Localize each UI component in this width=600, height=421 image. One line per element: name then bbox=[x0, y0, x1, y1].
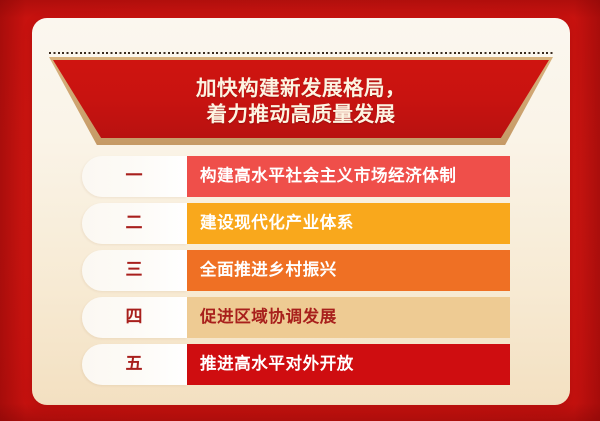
item-label: 全面推进乡村振兴 bbox=[200, 262, 337, 279]
item-number-label: 一 bbox=[126, 168, 144, 185]
poster-root: 加快构建新发展格局， 着力推动高质量发展 一 构建高水平社会主义市场经济体制 二… bbox=[0, 0, 600, 421]
item-number-badge: 三 bbox=[82, 250, 187, 291]
item-bar: 构建高水平社会主义市场经济体制 bbox=[187, 156, 510, 197]
item-bar: 推进高水平对外开放 bbox=[187, 344, 510, 385]
list-item[interactable]: 五 推进高水平对外开放 bbox=[32, 344, 570, 385]
item-number-label: 三 bbox=[126, 262, 144, 279]
list-item[interactable]: 三 全面推进乡村振兴 bbox=[32, 250, 570, 291]
list-item[interactable]: 一 构建高水平社会主义市场经济体制 bbox=[32, 156, 570, 197]
title-banner: 加快构建新发展格局， 着力推动高质量发展 bbox=[49, 57, 553, 145]
item-number-badge: 二 bbox=[82, 203, 187, 244]
item-bar: 促进区域协调发展 bbox=[187, 297, 510, 338]
item-label: 推进高水平对外开放 bbox=[200, 356, 354, 373]
dotted-divider bbox=[49, 52, 553, 54]
item-label: 促进区域协调发展 bbox=[200, 309, 337, 326]
item-bar: 建设现代化产业体系 bbox=[187, 203, 510, 244]
title-line-1: 加快构建新发展格局， bbox=[196, 76, 406, 101]
content-card: 加快构建新发展格局， 着力推动高质量发展 一 构建高水平社会主义市场经济体制 二… bbox=[32, 18, 570, 405]
item-number-label: 四 bbox=[126, 309, 144, 326]
item-number-badge: 一 bbox=[82, 156, 187, 197]
title-line-2: 着力推动高质量发展 bbox=[207, 102, 396, 127]
item-number-badge: 四 bbox=[82, 297, 187, 338]
item-number-label: 五 bbox=[126, 356, 144, 373]
item-label: 建设现代化产业体系 bbox=[200, 215, 354, 232]
items-list: 一 构建高水平社会主义市场经济体制 二 建设现代化产业体系 三 bbox=[32, 156, 570, 385]
list-item[interactable]: 四 促进区域协调发展 bbox=[32, 297, 570, 338]
item-bar: 全面推进乡村振兴 bbox=[187, 250, 510, 291]
item-label: 构建高水平社会主义市场经济体制 bbox=[200, 168, 457, 185]
list-item[interactable]: 二 建设现代化产业体系 bbox=[32, 203, 570, 244]
item-number-badge: 五 bbox=[82, 344, 187, 385]
banner-text-block: 加快构建新发展格局， 着力推动高质量发展 bbox=[49, 57, 553, 145]
item-number-label: 二 bbox=[126, 215, 144, 232]
